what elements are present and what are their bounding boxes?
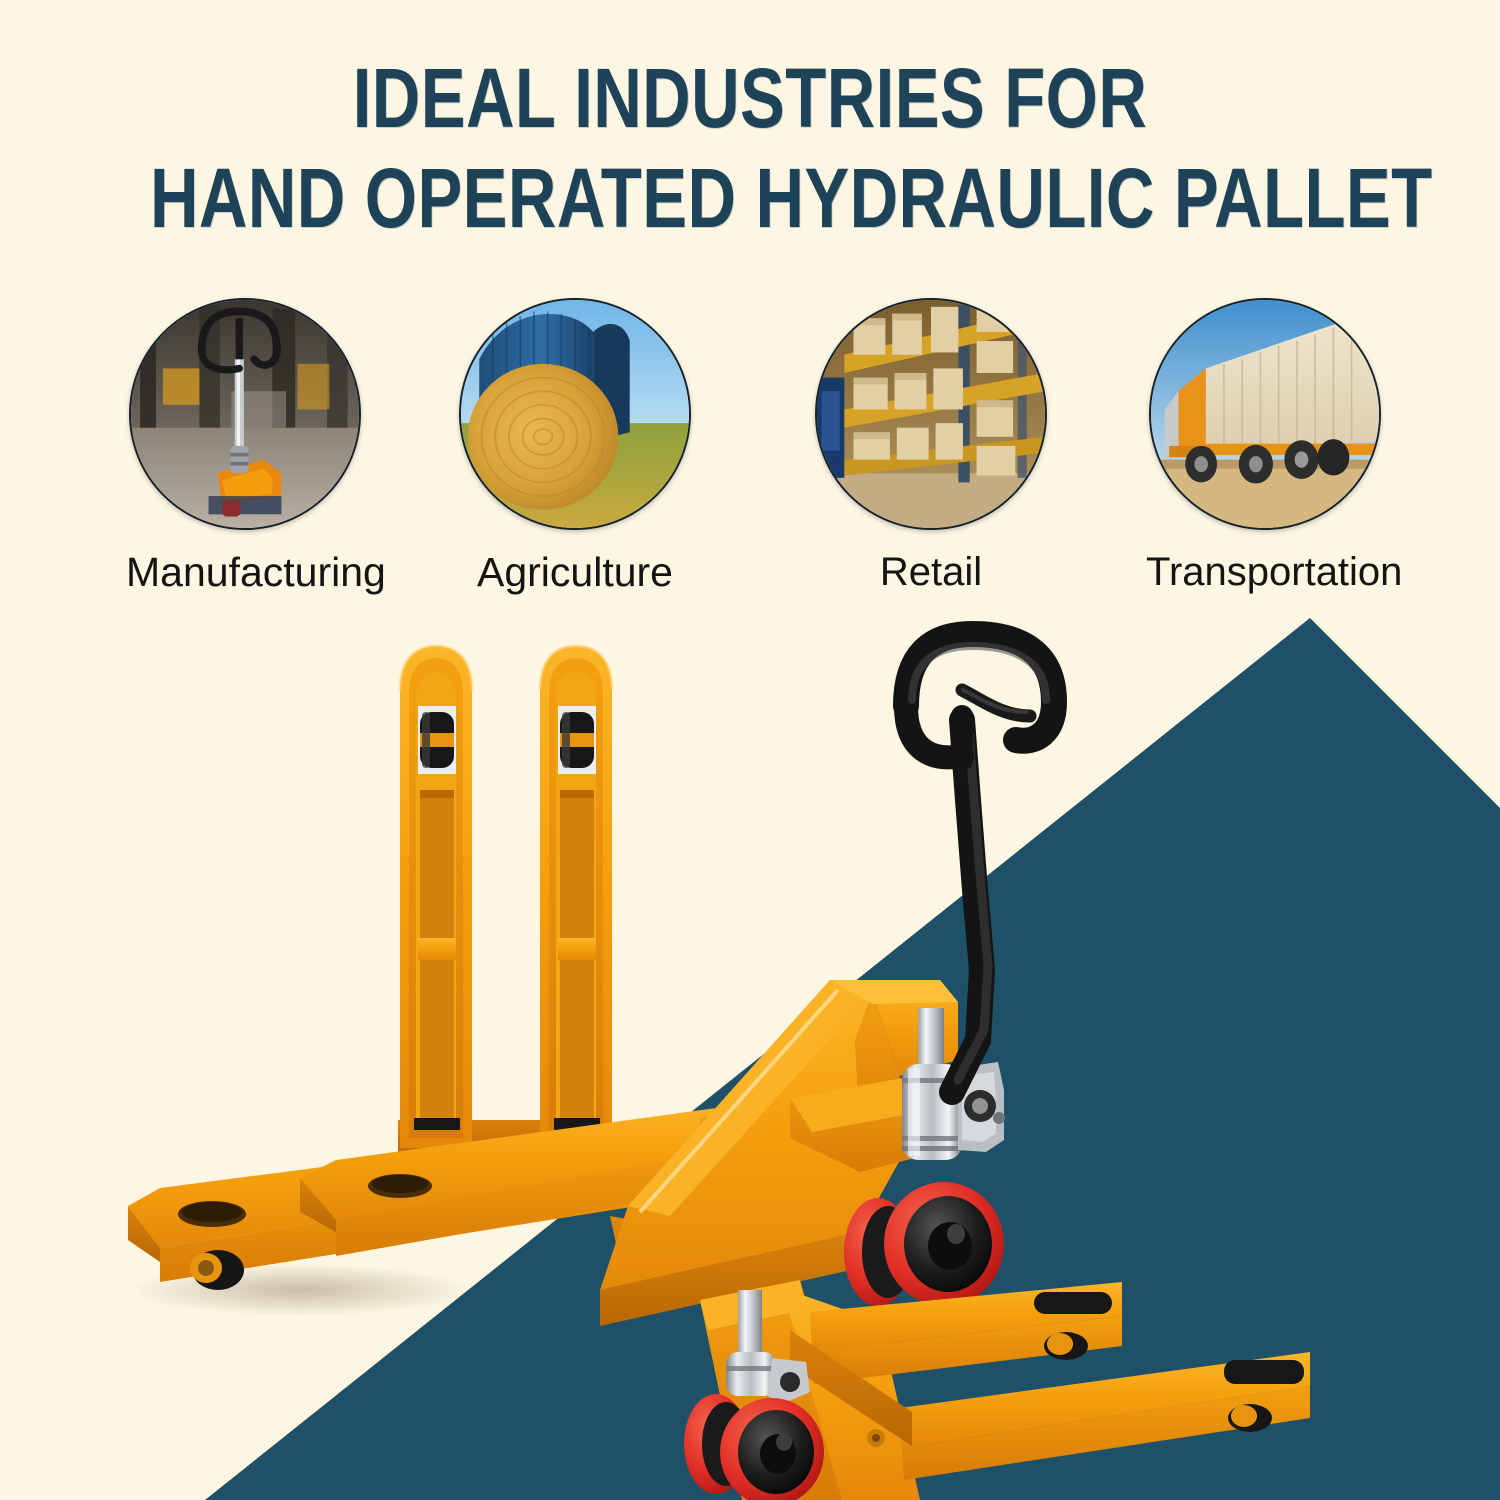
industry-label: Manufacturing <box>126 548 364 596</box>
page-title: IDEAL INDUSTRIES FOR HAND OPERATED HYDRA… <box>0 48 1500 248</box>
industry-label: Retail <box>812 548 1050 596</box>
headline-line-1: IDEAL INDUSTRIES FOR <box>150 48 1350 148</box>
agriculture-photo-icon <box>459 298 691 530</box>
forks-standalone-view <box>392 646 612 1170</box>
steering-wheels <box>844 1182 1004 1306</box>
industry-label: Agriculture <box>456 548 694 596</box>
industry-item-transportation: Transportation <box>1146 298 1384 596</box>
industry-item-retail: Retail <box>812 298 1050 596</box>
industry-list: Manufacturing <box>0 298 1500 598</box>
product-infographic: IDEAL INDUSTRIES FOR HAND OPERATED HYDRA… <box>0 0 1500 1500</box>
secondary-steering-wheels <box>684 1394 824 1500</box>
pallet-jack-secondary-unit <box>684 1280 1310 1500</box>
industry-item-agriculture: Agriculture <box>456 298 694 596</box>
industry-label: Transportation <box>1146 548 1384 596</box>
retail-photo-icon <box>815 298 1047 530</box>
headline-line-2: HAND OPERATED HYDRAULIC PALLET <box>150 148 1350 248</box>
manufacturing-photo-icon <box>129 298 361 530</box>
industry-item-manufacturing: Manufacturing <box>126 298 364 596</box>
transportation-photo-icon <box>1149 298 1381 530</box>
